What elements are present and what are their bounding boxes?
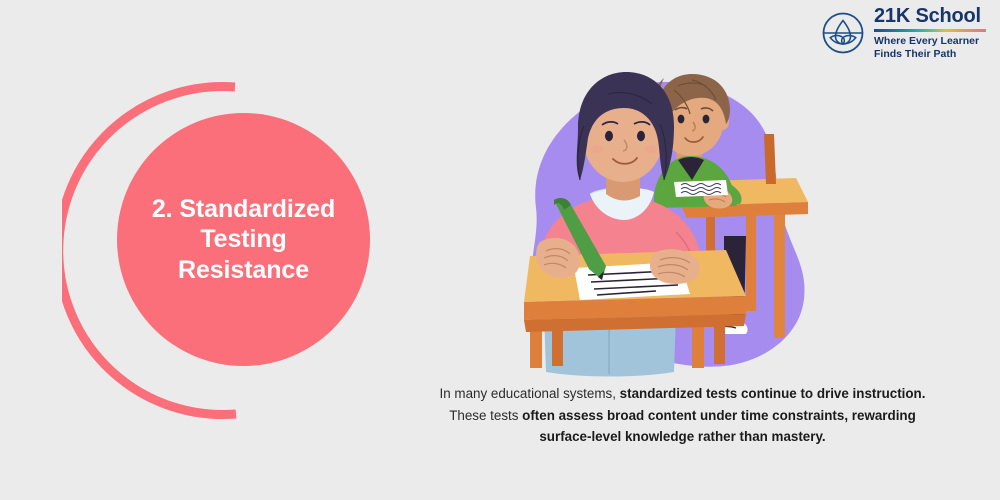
title-line-2: Testing [200, 225, 286, 253]
title-circle: 2. Standardized Testing Resistance [117, 113, 370, 366]
boy-paper [674, 180, 728, 197]
title-line-1: 2. Standardized [152, 195, 335, 223]
brand-name: 21K School [874, 6, 981, 27]
slide-canvas: 21K School Where Every Learner Finds The… [0, 0, 1000, 500]
body-segment-1: In many educational systems, [440, 386, 620, 401]
lotus-in-circle-icon [821, 11, 865, 55]
page-title: 2. Standardized Testing Resistance [136, 194, 351, 285]
body-segment-2-bold: standardized tests continue to drive ins… [620, 386, 926, 401]
brand-tagline: Where Every Learner Finds Their Path [874, 35, 979, 61]
brand-text-block: 21K School Where Every Learner Finds The… [874, 6, 986, 61]
body-segment-3: These tests [449, 408, 522, 423]
body-segment-4-bold: often assess broad content under time co… [522, 408, 916, 445]
title-card: 2. Standardized Testing Resistance [62, 78, 372, 423]
brand-tagline-line-1: Where Every Learner [874, 35, 979, 48]
title-line-3: Resistance [178, 256, 309, 284]
students-illustration [478, 56, 828, 396]
brand-logo[interactable]: 21K School Where Every Learner Finds The… [821, 6, 986, 61]
body-paragraph: In many educational systems, standardize… [425, 383, 940, 448]
brand-tagline-line-2: Finds Their Path [874, 48, 979, 61]
brand-gradient-rule [874, 29, 986, 32]
